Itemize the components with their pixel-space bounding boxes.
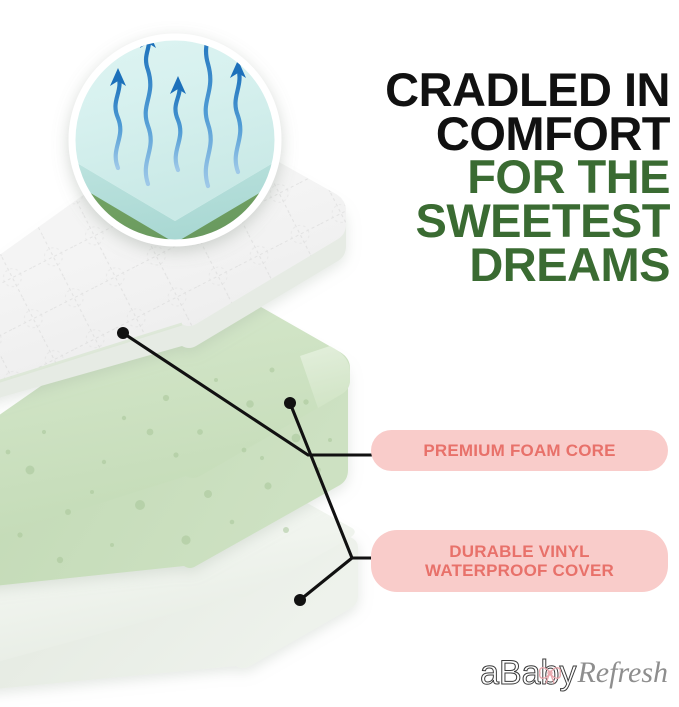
brand-logo: aBaby Refresh [478,650,668,696]
callout-badge-premium-foam-core-label: PREMIUM FOAM CORE [423,441,615,460]
headline-line-4: SWEETEST [325,199,670,243]
headline-line-1: CRADLED IN [325,68,670,112]
callout-badge-durable-vinyl-waterproof-cover: DURABLE VINYL WATERPROOF COVER [371,530,668,592]
bow-icon [537,662,563,684]
headline-line-2: COMFORT [325,112,670,156]
callout-badge-vinyl-label-line-1: DURABLE VINYL [425,542,614,561]
callout-badge-vinyl-label-line-2: WATERPROOF COVER [425,561,614,580]
headline: CRADLED IN COMFORT FOR THE SWEETEST DREA… [325,68,670,287]
headline-line-5: DREAMS [325,243,670,287]
brand-logo-secondary: Refresh [577,656,668,690]
promo-image: CRADLED IN COMFORT FOR THE SWEETEST DREA… [0,0,679,707]
callout-badge-premium-foam-core: PREMIUM FOAM CORE [371,430,668,471]
headline-line-3: FOR THE [325,155,670,199]
